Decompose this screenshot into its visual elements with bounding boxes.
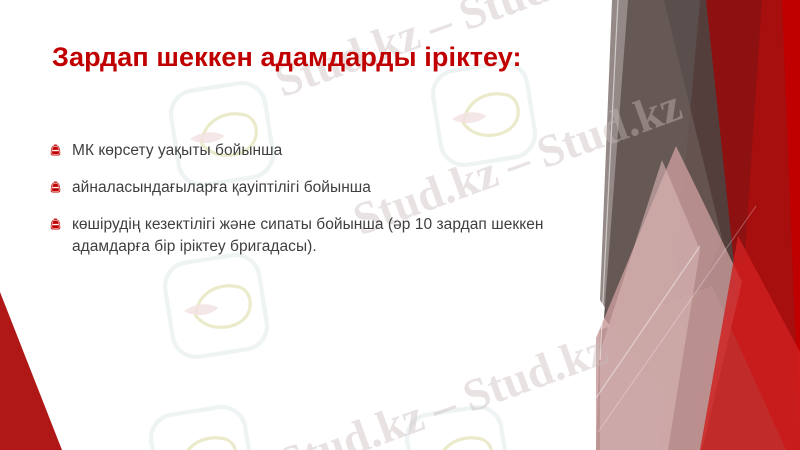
list-item-label: айналасындағыларға қауіптілігі бойынша (72, 177, 371, 199)
slide-content: Зардап шеккен адамдарды іріктеу: МК көрс… (0, 0, 800, 450)
presentation-slide: Stud.kz – Stud.kz Stud.kz – Stud.kz Stud… (0, 0, 800, 450)
red-bell-bullet-icon (48, 143, 63, 158)
red-bell-bullet-icon (48, 217, 63, 232)
list-item-label: көшірудің кезектілігі және сипаты бойынш… (72, 214, 588, 258)
red-bell-bullet-icon (48, 180, 63, 195)
list-item: айналасындағыларға қауіптілігі бойынша (48, 177, 588, 199)
list-item: МК көрсету уақыты бойынша (48, 140, 588, 162)
list-item: көшірудің кезектілігі және сипаты бойынш… (48, 214, 588, 258)
bullet-list: МК көрсету уақыты бойынша айналасындағыл… (48, 140, 588, 273)
list-item-label: МК көрсету уақыты бойынша (72, 140, 282, 162)
slide-title: Зардап шеккен адамдарды іріктеу: (52, 42, 612, 73)
